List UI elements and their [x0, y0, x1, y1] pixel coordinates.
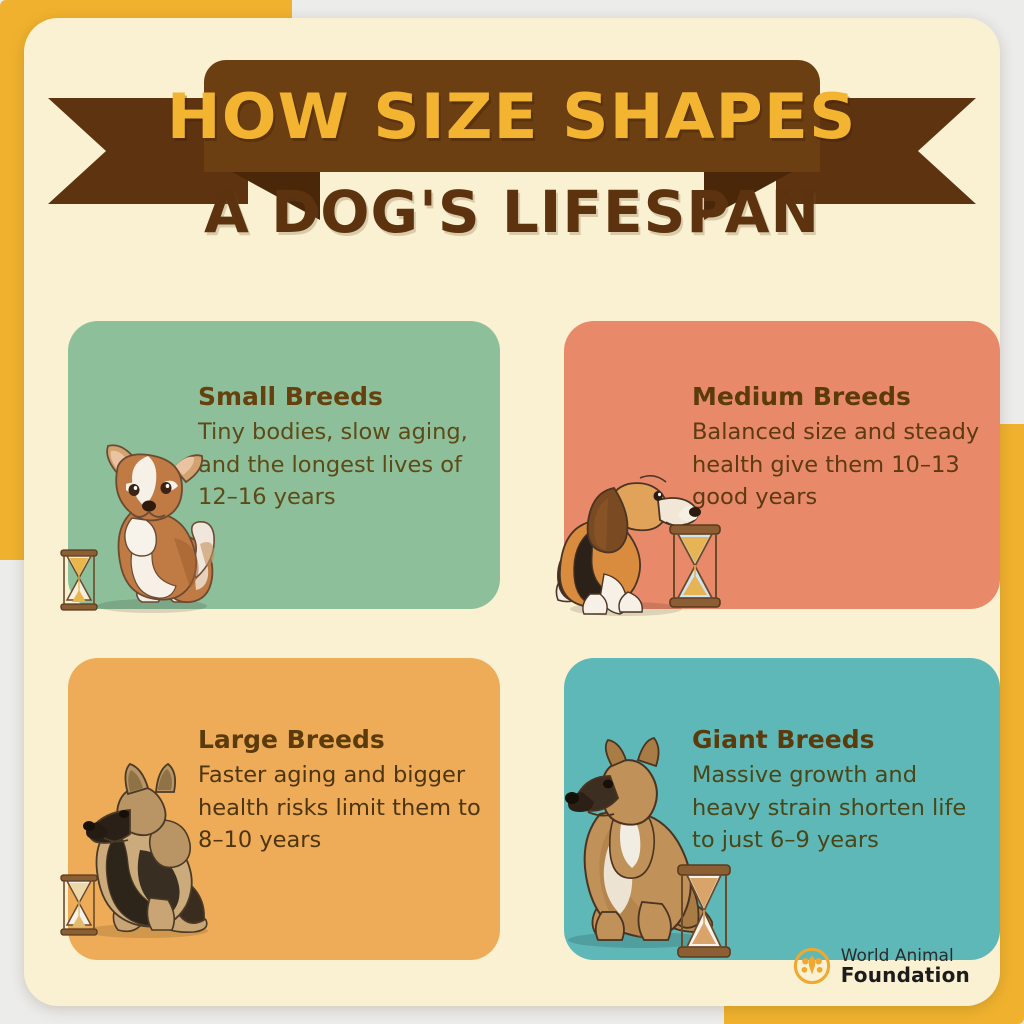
card-text-small: Small Breeds Tiny bodies, slow aging, an… — [198, 383, 488, 514]
card-heading-medium: Medium Breeds — [692, 383, 992, 412]
infographic-page: HOW SIZE SHAPES A DOG'S LIFESPAN Small B… — [24, 18, 1000, 1006]
breed-card-large[interactable]: Large Breeds Faster aging and bigger hea… — [68, 658, 500, 960]
card-heading-small: Small Breeds — [198, 383, 488, 412]
breed-card-medium[interactable]: Medium Breeds Balanced size and steady h… — [564, 321, 1000, 609]
page-title-line2: A DOG'S LIFESPAN — [24, 178, 1000, 246]
card-heading-large: Large Breeds — [198, 726, 488, 755]
card-body-medium: Balanced size and steady health give the… — [692, 416, 992, 515]
infographic-root: HOW SIZE SHAPES A DOG'S LIFESPAN Small B… — [0, 0, 1024, 1024]
breed-card-small[interactable]: Small Breeds Tiny bodies, slow aging, an… — [68, 321, 500, 609]
card-text-medium: Medium Breeds Balanced size and steady h… — [692, 383, 992, 514]
page-title-line1: HOW SIZE SHAPES — [167, 80, 857, 153]
card-text-giant: Giant Breeds Massive growth and heavy st… — [692, 726, 992, 857]
ribbon-band: HOW SIZE SHAPES — [204, 60, 820, 172]
card-text-large: Large Breeds Faster aging and bigger hea… — [198, 726, 488, 857]
breed-card-giant[interactable]: Giant Breeds Massive growth and heavy st… — [564, 658, 1000, 960]
card-body-large: Faster aging and bigger health risks lim… — [198, 759, 488, 858]
card-heading-giant: Giant Breeds — [692, 726, 992, 755]
logo-line-2: Foundation — [841, 965, 970, 986]
card-body-giant: Massive growth and heavy strain shorten … — [692, 759, 992, 858]
card-body-small: Tiny bodies, slow aging, and the longest… — [198, 416, 488, 515]
paw-globe-icon — [793, 947, 831, 985]
logo-wordmark: World Animal Foundation — [841, 947, 970, 986]
brand-logo[interactable]: World Animal Foundation — [793, 947, 970, 986]
title-ribbon: HOW SIZE SHAPES A DOG'S LIFESPAN — [24, 60, 1000, 250]
